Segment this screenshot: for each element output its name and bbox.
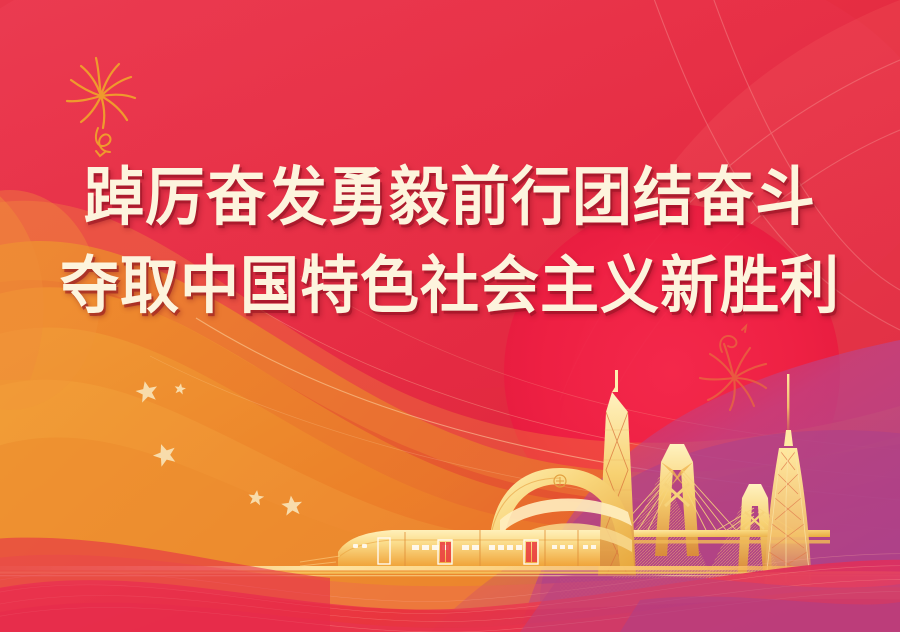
poster-canvas: 踔厉奋发勇毅前行团结奋斗 夺取中国特色社会主义新胜利 — [0, 0, 900, 632]
poster-background — [0, 0, 900, 632]
